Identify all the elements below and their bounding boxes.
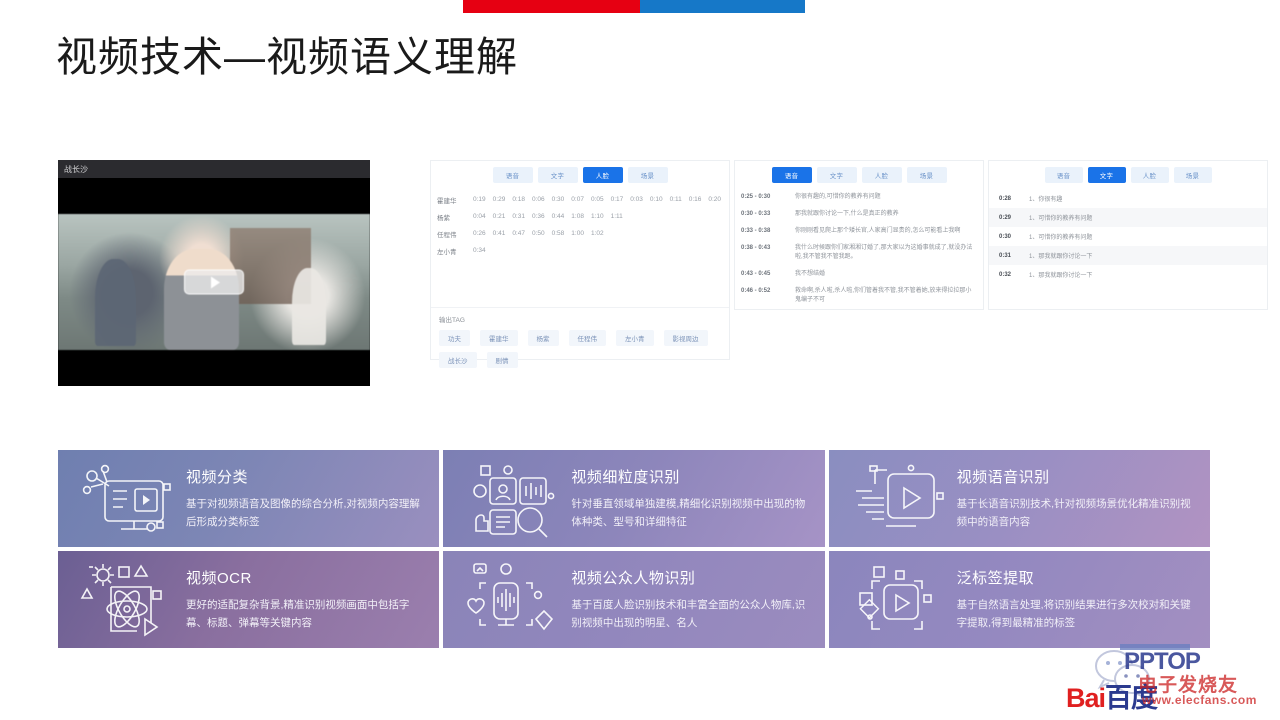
video-title: 战长沙 — [58, 160, 370, 178]
card-body: 视频语音识别 基于长语音识别技术,针对视频场景优化精准识别视频中的语音内容 — [953, 466, 1196, 532]
tab-face[interactable]: 人脸 — [862, 167, 902, 183]
feature-card-celebrity-recognition[interactable]: 视频公众人物识别 基于百度人脸识别技术和丰富全面的公众人物库,识别视频中出现的明… — [443, 551, 824, 648]
list-item[interactable]: 0:46 - 0:52 救命啊,杀人啦,杀人啦,你们管着我不管,我不管着她,放来… — [735, 283, 983, 309]
tab-face[interactable]: 人脸 — [1131, 167, 1169, 183]
tag-chip[interactable]: 功夫 — [439, 330, 470, 346]
face-timestamps: 0:04 0:21 0:31 0:36 0:44 1:08 1:10 1:11 — [473, 213, 623, 220]
timestamp[interactable]: 0:04 — [473, 213, 486, 220]
output-tag-section: 输出TAG 功夫 霍建华 杨紫 任程伟 左小青 影视周边 战长沙 剧情 — [431, 307, 729, 374]
timestamp[interactable]: 0:03 — [630, 196, 643, 203]
tab-text[interactable]: 文字 — [817, 167, 857, 183]
timestamp[interactable]: 1:02 — [591, 230, 604, 237]
feature-card-tag-extraction[interactable]: 泛标签提取 基于自然语言处理,将识别结果进行多次校对和关键字提取,得到最精准的标… — [829, 551, 1210, 648]
card-body: 泛标签提取 基于自然语言处理,将识别结果进行多次校对和关键字提取,得到最精准的标… — [953, 567, 1196, 633]
list-item[interactable]: 0:28 1、你很有趣 — [989, 189, 1267, 208]
speech-timecode: 0:46 - 0:52 — [741, 287, 787, 305]
video-stage[interactable] — [58, 178, 370, 386]
card-title: 视频细粒度识别 — [571, 466, 810, 487]
tab-speech[interactable]: 语音 — [493, 167, 533, 183]
wechat-icon — [1092, 648, 1154, 700]
ocr-text: 1、你很有趣 — [1029, 194, 1257, 203]
timestamp[interactable]: 0:44 — [552, 213, 565, 220]
ocr-text: 1、可惜你的教养有问题 — [1029, 232, 1257, 241]
card-description: 基于对视频语音及图像的综合分析,对视频内容理解后形成分类标签 — [186, 495, 425, 532]
foreground-person — [164, 249, 239, 350]
speech-text: 那我就跟你讨论一下,什么是真正的教养 — [795, 210, 977, 219]
tab-scene[interactable]: 场景 — [907, 167, 947, 183]
timestamp[interactable]: 0:17 — [611, 196, 624, 203]
list-item[interactable]: 0:25 - 0:30 你很有趣的,可惜你的教养有问题 — [735, 189, 983, 206]
background-figure-left — [95, 259, 136, 346]
ocr-timecode: 0:28 — [999, 196, 1019, 202]
timestamp[interactable]: 0:21 — [493, 213, 506, 220]
tag-chip[interactable]: 杨紫 — [528, 330, 559, 346]
card-title: 视频公众人物识别 — [571, 567, 810, 588]
list-item[interactable]: 0:30 - 0:33 那我就跟你讨论一下,什么是真正的教养 — [735, 206, 983, 223]
watermark-elecfans-url: www.elecfans.com — [1142, 693, 1257, 707]
tag-chip[interactable]: 影视周边 — [664, 330, 708, 346]
ocr-result-list: 0:28 1、你很有趣 0:29 1、可惜你的教养有问题 0:30 1、可惜你的… — [989, 187, 1267, 286]
timestamp[interactable]: 0:36 — [532, 213, 545, 220]
table-row[interactable]: 左小青 0:34 — [437, 242, 723, 259]
list-item[interactable]: 0:32 1、那我就跟你讨论一下 — [989, 265, 1267, 284]
tab-speech[interactable]: 语音 — [1045, 167, 1083, 183]
list-item[interactable]: 0:43 - 0:45 我不想结婚 — [735, 266, 983, 283]
card-description: 更好的适配复杂背景,精准识别视频画面中包括字幕、标题、弹幕等关键内容 — [186, 596, 425, 633]
timestamp[interactable]: 0:30 — [552, 196, 565, 203]
face-timestamps: 0:34 — [473, 247, 486, 254]
feature-card-video-classification[interactable]: 视频分类 基于对视频语音及图像的综合分析,对视频内容理解后形成分类标签 — [58, 450, 439, 547]
table-row[interactable]: 杨紫 0:04 0:21 0:31 0:36 0:44 1:08 1:10 1:… — [437, 208, 723, 225]
watermark-baidu-bai: Bai — [1066, 683, 1105, 713]
speech-timecode: 0:43 - 0:45 — [741, 270, 787, 279]
tag-chip[interactable]: 剧情 — [487, 352, 518, 368]
timestamp[interactable]: 0:26 — [473, 230, 486, 237]
speech-text: 你很有趣的,可惜你的教养有问题 — [795, 193, 977, 202]
card-body: 视频细粒度识别 针对垂直领域单独建模,精细化识别视频中出现的物体种类、型号和详细… — [567, 466, 810, 532]
card-title: 视频语音识别 — [957, 466, 1196, 487]
timestamp[interactable]: 0:18 — [512, 196, 525, 203]
timestamp[interactable]: 0:50 — [532, 230, 545, 237]
tab-face[interactable]: 人脸 — [583, 167, 623, 183]
speech-text: 我什么时候跟你们家湘湘订婚了,那大家以为这婚事就成了,就没办法啦,我不管我不管我… — [795, 244, 977, 262]
speech-recognition-panel: 语音 文字 人脸 场景 0:25 - 0:30 你很有趣的,可惜你的教养有问题 … — [734, 160, 984, 310]
table-row[interactable]: 霍建华 0:19 0:29 0:18 0:06 0:30 0:07 0:05 0… — [437, 191, 723, 208]
feature-card-speech-recognition[interactable]: 视频语音识别 基于长语音识别技术,针对视频场景优化精准识别视频中的语音内容 — [829, 450, 1210, 547]
demo-screenshot-strip: 战长沙 语音 文字 人脸 场景 霍建华 0:19 — [58, 160, 1210, 390]
card-description: 针对垂直领域单独建模,精细化识别视频中出现的物体种类、型号和详细特征 — [571, 495, 810, 532]
speech-transcript-list: 0:25 - 0:30 你很有趣的,可惜你的教养有问题 0:30 - 0:33 … — [735, 187, 983, 311]
timestamp[interactable]: 0:34 — [473, 247, 486, 254]
ocr-panel-tabbar: 语音 文字 人脸 场景 — [989, 161, 1267, 187]
feature-card-grid: 视频分类 基于对视频语音及图像的综合分析,对视频内容理解后形成分类标签 视频细粒… — [58, 450, 1210, 648]
card-description: 基于长语音识别技术,针对视频场景优化精准识别视频中的语音内容 — [957, 495, 1196, 532]
speech-panel-tabbar: 语音 文字 人脸 场景 — [735, 161, 983, 187]
card-description: 基于自然语言处理,将识别结果进行多次校对和关键字提取,得到最精准的标签 — [957, 596, 1196, 633]
face-name: 任程伟 — [437, 229, 473, 239]
list-item[interactable]: 0:29 1、可惜你的教养有问题 — [989, 208, 1267, 227]
speech-recognition-icon — [843, 450, 953, 547]
timestamp[interactable]: 1:00 — [571, 230, 584, 237]
ocr-text: 1、那我就跟你讨论一下 — [1029, 251, 1257, 260]
fine-grained-recognition-icon — [457, 450, 567, 547]
play-icon — [211, 276, 220, 288]
watermark-baidu-du: 百度 — [1105, 683, 1157, 713]
card-body: 视频分类 基于对视频语音及图像的综合分析,对视频内容理解后形成分类标签 — [182, 466, 425, 532]
output-tag-title: 输出TAG — [439, 314, 721, 324]
ocr-text: 1、那我就跟你讨论一下 — [1029, 270, 1257, 279]
face-recognition-panel: 语音 文字 人脸 场景 霍建华 0:19 0:29 0:18 0:06 0:30… — [430, 160, 730, 360]
speech-text: 你刚刚看见爬上那个矮长官,人家高门显贵的,怎么可能看上我啊 — [795, 227, 977, 236]
card-body: 视频OCR 更好的适配复杂背景,精准识别视频画面中包括字幕、标题、弹幕等关键内容 — [182, 567, 425, 633]
video-player[interactable]: 战长沙 — [58, 160, 370, 386]
timestamp[interactable]: 0:11 — [670, 196, 682, 203]
ocr-timecode: 0:29 — [999, 215, 1019, 221]
watermark-elecfans-cn: 电子发烧友 — [1138, 670, 1238, 697]
list-item[interactable]: 0:30 1、可惜你的教养有问题 — [989, 227, 1267, 246]
timestamp[interactable]: 0:47 — [512, 230, 525, 237]
face-timestamps: 0:19 0:29 0:18 0:06 0:30 0:07 0:05 0:17 … — [473, 196, 721, 203]
timestamp[interactable]: 0:06 — [532, 196, 545, 203]
speech-timecode: 0:25 - 0:30 — [741, 193, 787, 202]
page-title: 视频技术—视频语义理解 — [56, 33, 518, 82]
face-name: 左小青 — [437, 246, 473, 256]
feature-card-video-ocr[interactable]: 视频OCR 更好的适配复杂背景,精准识别视频画面中包括字幕、标题、弹幕等关键内容 — [58, 551, 439, 648]
tab-text[interactable]: 文字 — [538, 167, 578, 183]
list-item[interactable]: 0:38 - 0:43 我什么时候跟你们家湘湘订婚了,那大家以为这婚事就成了,就… — [735, 240, 983, 266]
timestamp[interactable]: 0:07 — [571, 196, 584, 203]
ocr-result-panel: 语音 文字 人脸 场景 0:28 1、你很有趣 0:29 1、可惜你的教养有问题… — [988, 160, 1268, 310]
ocr-timecode: 0:31 — [999, 253, 1019, 259]
speech-timecode: 0:30 - 0:33 — [741, 210, 787, 219]
tag-chip[interactable]: 左小青 — [616, 330, 654, 346]
top-accent-bar — [463, 0, 805, 13]
tab-scene[interactable]: 场景 — [628, 167, 668, 183]
timestamp[interactable]: 0:19 — [473, 196, 486, 203]
tag-chip[interactable]: 任程伟 — [569, 330, 607, 346]
face-name: 杨紫 — [437, 212, 473, 222]
ocr-text: 1、可惜你的教养有问题 — [1029, 213, 1257, 222]
tab-scene[interactable]: 场景 — [1174, 167, 1212, 183]
accent-bar-blue — [640, 0, 805, 13]
tab-speech[interactable]: 语音 — [772, 167, 812, 183]
speech-timecode: 0:33 - 0:38 — [741, 227, 787, 236]
celebrity-recognition-icon — [457, 551, 567, 648]
timestamp[interactable]: 0:58 — [552, 230, 565, 237]
timestamp[interactable]: 0:10 — [650, 196, 663, 203]
table-row[interactable]: 任程伟 0:26 0:41 0:47 0:50 0:58 1:00 1:02 — [437, 225, 723, 242]
timestamp[interactable]: 1:10 — [591, 213, 604, 220]
timestamp[interactable]: 0:41 — [493, 230, 506, 237]
card-description: 基于百度人脸识别技术和丰富全面的公众人物库,识别视频中出现的明星、名人 — [571, 596, 810, 633]
timestamp[interactable]: 0:29 — [493, 196, 506, 203]
video-classification-icon — [72, 450, 182, 547]
card-body: 视频公众人物识别 基于百度人脸识别技术和丰富全面的公众人物库,识别视频中出现的明… — [567, 567, 810, 633]
card-title: 视频分类 — [186, 466, 425, 487]
speech-timecode: 0:38 - 0:43 — [741, 244, 787, 262]
speech-text: 救命啊,杀人啦,杀人啦,你们管着我不管,我不管着她,放来得拉拉那小鬼编子不可 — [795, 287, 977, 305]
ocr-icon — [72, 551, 182, 648]
watermark-baidu: Bai百度 — [1066, 676, 1157, 715]
timestamp[interactable]: 0:31 — [512, 213, 525, 220]
timestamp[interactable]: 0:05 — [591, 196, 604, 203]
card-title: 泛标签提取 — [957, 567, 1196, 588]
feature-card-fine-grained[interactable]: 视频细粒度识别 针对垂直领域单独建模,精细化识别视频中出现的物体种类、型号和详细… — [443, 450, 824, 547]
timestamp[interactable]: 1:11 — [611, 213, 623, 220]
ocr-timecode: 0:30 — [999, 234, 1019, 240]
output-tag-list: 功夫 霍建华 杨紫 任程伟 左小青 影视周边 战长沙 剧情 — [439, 330, 721, 368]
watermark-pptop: PPTOP — [1124, 648, 1200, 676]
timestamp[interactable]: 0:20 — [708, 196, 721, 203]
accent-bar-red — [463, 0, 640, 13]
tag-chip[interactable]: 霍建华 — [480, 330, 518, 346]
tag-extraction-icon — [843, 551, 953, 648]
background-figure-right — [292, 268, 326, 344]
timestamp[interactable]: 1:08 — [571, 213, 584, 220]
timestamp[interactable]: 0:16 — [689, 196, 702, 203]
tab-text[interactable]: 文字 — [1088, 167, 1126, 183]
face-name: 霍建华 — [437, 195, 473, 205]
face-panel-tabbar: 语音 文字 人脸 场景 — [431, 161, 729, 187]
face-result-list: 霍建华 0:19 0:29 0:18 0:06 0:30 0:07 0:05 0… — [431, 187, 729, 259]
speech-text: 我不想结婚 — [795, 270, 977, 279]
card-title: 视频OCR — [186, 567, 425, 588]
list-item[interactable]: 0:33 - 0:38 你刚刚看见爬上那个矮长官,人家高门显贵的,怎么可能看上我… — [735, 223, 983, 240]
play-button[interactable] — [184, 270, 244, 295]
ocr-timecode: 0:32 — [999, 272, 1019, 278]
face-timestamps: 0:26 0:41 0:47 0:50 0:58 1:00 1:02 — [473, 230, 604, 237]
video-frame — [58, 214, 370, 350]
list-item[interactable]: 0:31 1、那我就跟你讨论一下 — [989, 246, 1267, 265]
tag-chip[interactable]: 战长沙 — [439, 352, 477, 368]
